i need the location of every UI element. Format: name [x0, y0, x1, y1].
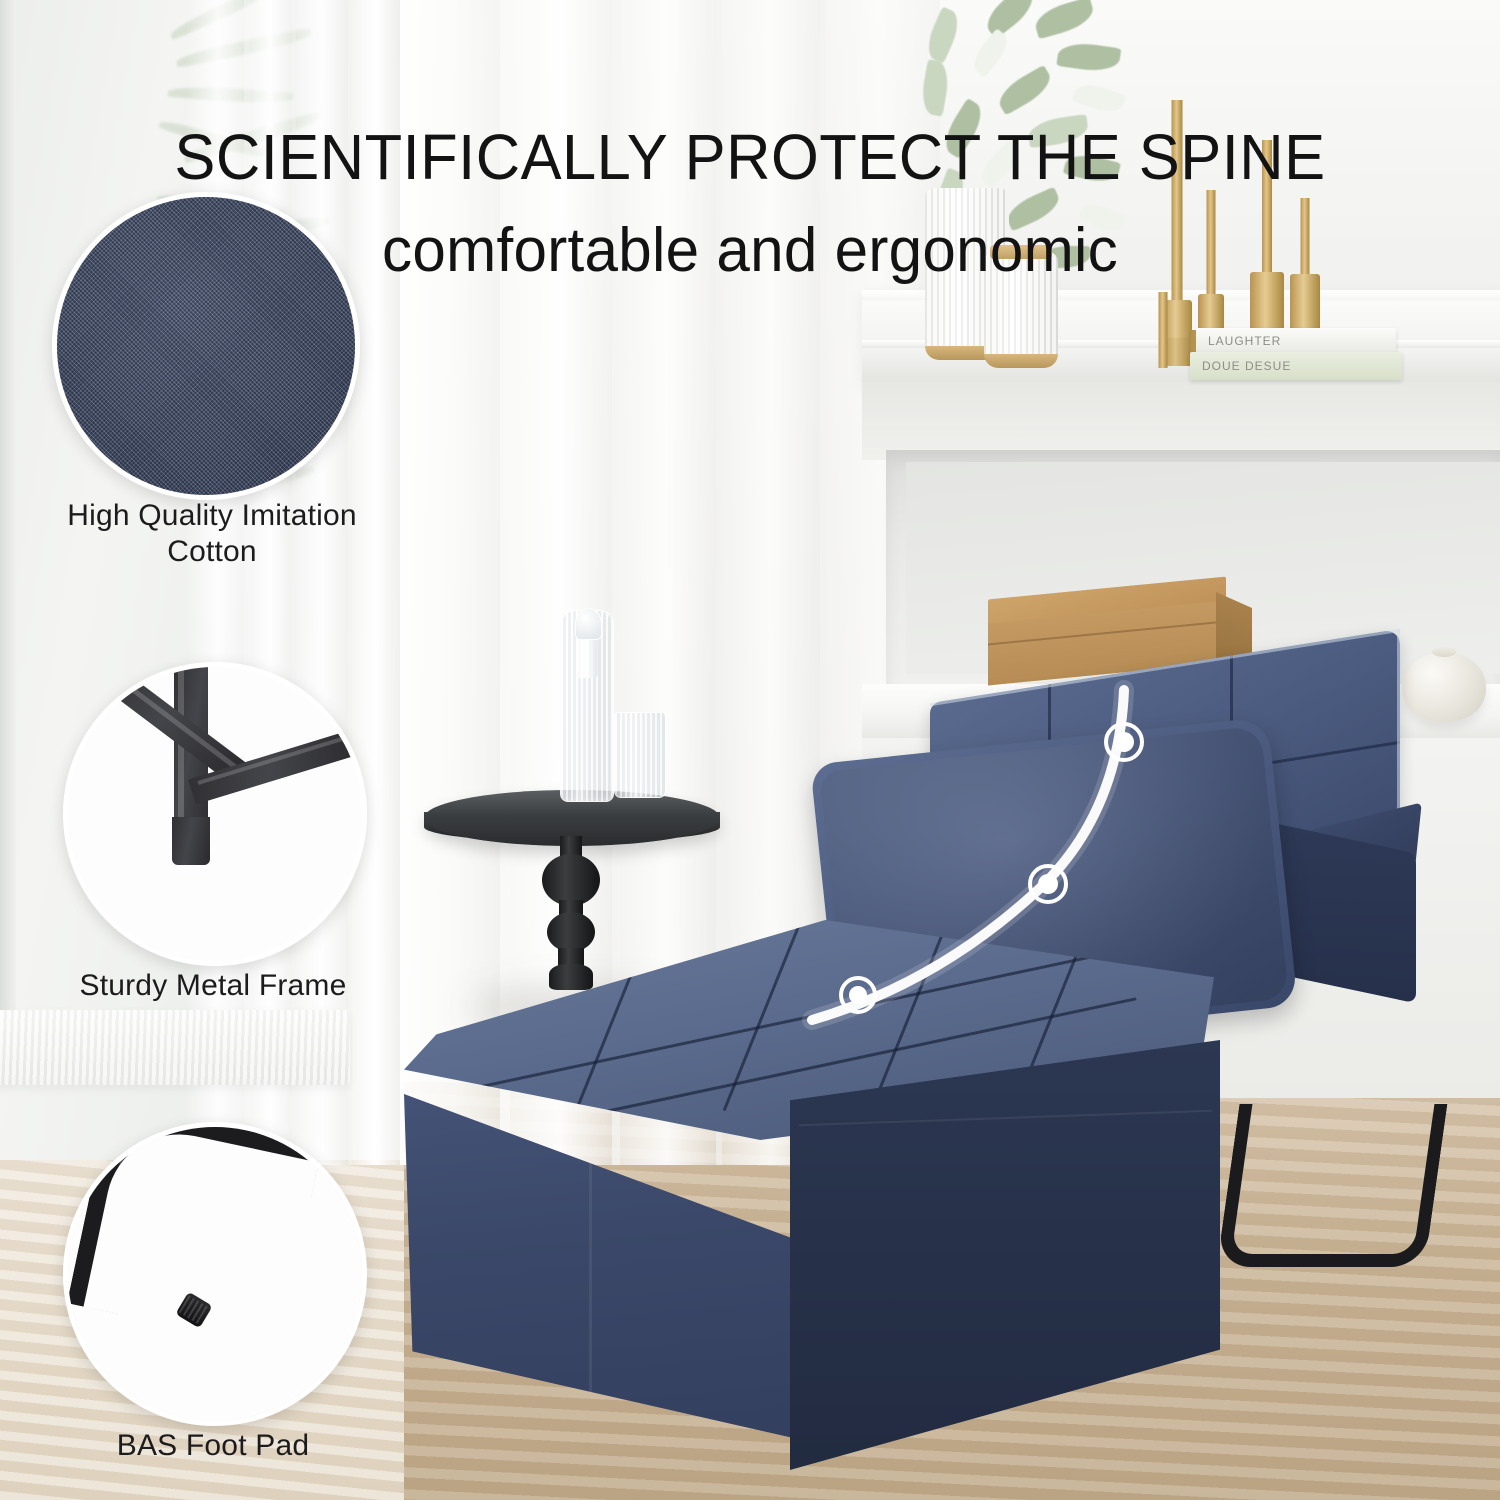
feature-label-footpad: BAS Foot Pad: [58, 1428, 368, 1464]
sofa-seat-side-skirt: [790, 1040, 1220, 1470]
metal-frame-icon: [63, 662, 367, 966]
foot-pad-icon: [63, 1122, 367, 1426]
page-title: SCIENTIFICALLY PROTECT THE SPINE: [30, 120, 1470, 194]
feature-label-fabric-line2: Cotton: [40, 534, 384, 570]
fabric-swatch-icon: [52, 192, 360, 500]
feature-callout-footpad: BAS Foot Pad: [58, 1122, 368, 1482]
feature-label-fabric-line1: High Quality Imitation: [40, 498, 384, 534]
feature-label-frame: Sturdy Metal Frame: [58, 968, 368, 1004]
feature-callout-fabric: High Quality Imitation Cotton: [40, 192, 384, 582]
feature-callout-frame: Sturdy Metal Frame: [58, 662, 368, 1022]
sofa-metal-leg: [1217, 1104, 1448, 1267]
product-marketing-image: LAUGHTER DOUE DESUE: [0, 0, 1500, 1500]
